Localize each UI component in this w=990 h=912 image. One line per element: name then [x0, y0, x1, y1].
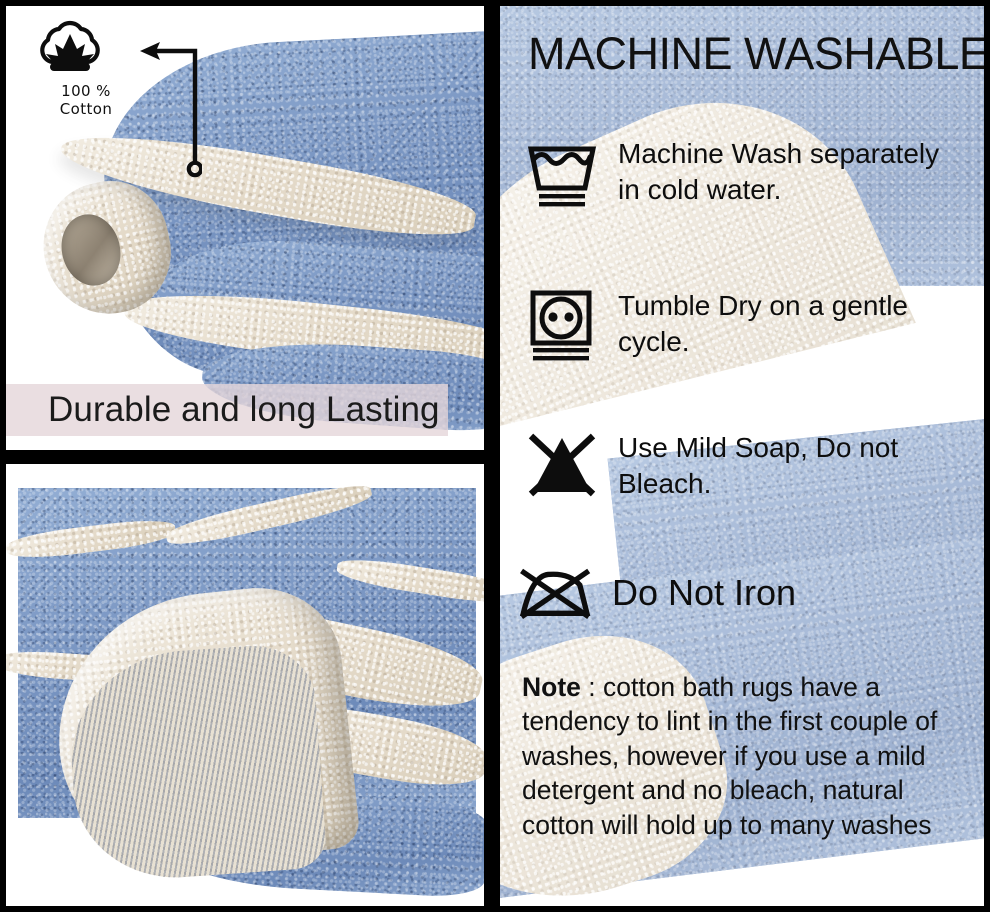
caption-text-durable: Durable and long Lasting [48, 390, 440, 430]
tumble-dry-icon [524, 288, 600, 362]
care-instruction-machine-wash: Machine Wash separately in cold water. [524, 136, 948, 210]
wash-tub-icon [524, 136, 600, 210]
care-text-tumble-dry: Tumble Dry on a gentle cycle. [618, 288, 948, 360]
care-text-do-not-iron: Do Not Iron [612, 570, 796, 616]
panel-soft-dense-plush-cotton: Soft & Dense Plush Cotton [6, 464, 484, 906]
care-note: Note : cotton bath rugs have a tendency … [522, 670, 970, 842]
leader-arrow-icon [138, 38, 202, 180]
rug-photo-plush [6, 464, 484, 906]
care-note-label: Note [522, 672, 581, 702]
care-note-separator: : [581, 672, 603, 702]
cotton-boll-icon [28, 20, 144, 82]
care-instruction-do-not-bleach: Use Mild Soap, Do not Bleach. [524, 430, 948, 504]
cotton-badge-line2: Cotton [28, 101, 144, 118]
cotton-badge-line1: 100 % [28, 83, 144, 100]
panel-durable-and-long-lasting: 100 % Cotton Durable and long Lasting [6, 6, 484, 450]
do-not-iron-icon [518, 558, 594, 628]
care-text-machine-wash: Machine Wash separately in cold water. [618, 136, 948, 208]
product-infographic: 100 % Cotton Durable and long Lasting [0, 0, 990, 912]
care-instruction-do-not-iron: Do Not Iron [518, 558, 796, 628]
caption-band-durable: Durable and long Lasting [6, 384, 448, 436]
cotton-badge: 100 % Cotton [28, 20, 144, 118]
care-instruction-tumble-dry: Tumble Dry on a gentle cycle. [524, 288, 948, 362]
do-not-bleach-icon [524, 430, 600, 504]
care-text-do-not-bleach: Use Mild Soap, Do not Bleach. [618, 430, 948, 502]
panel-machine-washable: MACHINE WASHABLE Machine Wash separately… [500, 6, 984, 906]
page-title: MACHINE WASHABLE [528, 28, 984, 80]
